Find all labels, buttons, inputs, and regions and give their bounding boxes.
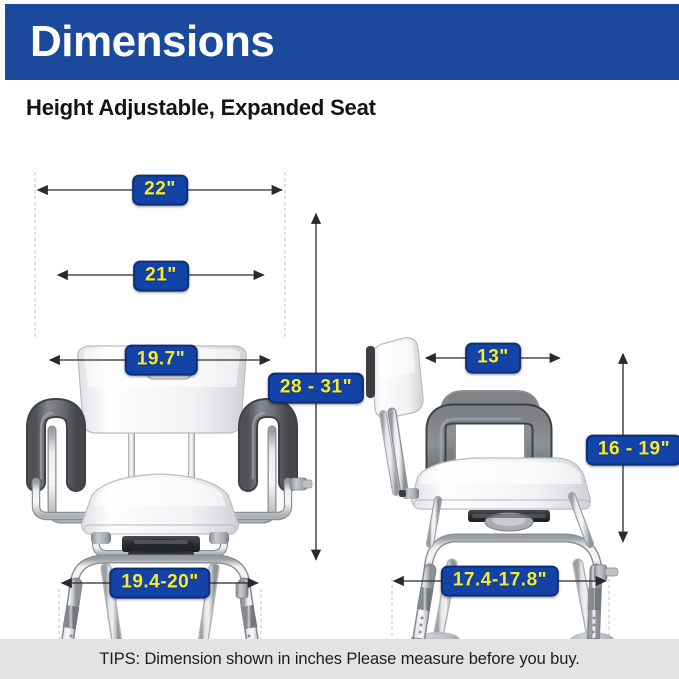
dim-badge-backrest-width: 21" xyxy=(133,261,189,292)
page-title: Dimensions xyxy=(30,20,274,64)
footer-band: TIPS: Dimension shown in inches Please m… xyxy=(0,639,679,679)
subtitle: Height Adjustable, Expanded Seat xyxy=(26,95,376,121)
header-bar: Dimensions xyxy=(5,4,679,80)
dim-badge-overall-height: 28 - 31" xyxy=(268,373,364,404)
dimensions-infographic: Dimensions Height Adjustable, Expanded S… xyxy=(0,0,679,679)
footer-tip-text: TIPS: Dimension shown in inches Please m… xyxy=(99,650,580,669)
seat xyxy=(82,474,239,534)
dim-badge-seat-depth: 13" xyxy=(465,343,521,374)
dim-badge-overall-width: 22" xyxy=(132,175,188,206)
swivel-base-side xyxy=(468,510,550,531)
dim-badge-base-width: 19.4-20" xyxy=(109,568,210,599)
dim-badge-seat-width: 19.7" xyxy=(125,345,198,376)
diagram-stage: 22" 21" 19.7" 28 - 31" 19.4-20" 13" 16 -… xyxy=(0,140,679,640)
dim-badge-seat-height: 16 - 19" xyxy=(586,435,679,466)
backrest-side xyxy=(366,338,423,418)
dim-badge-base-depth: 17.4-17.8" xyxy=(441,566,559,597)
